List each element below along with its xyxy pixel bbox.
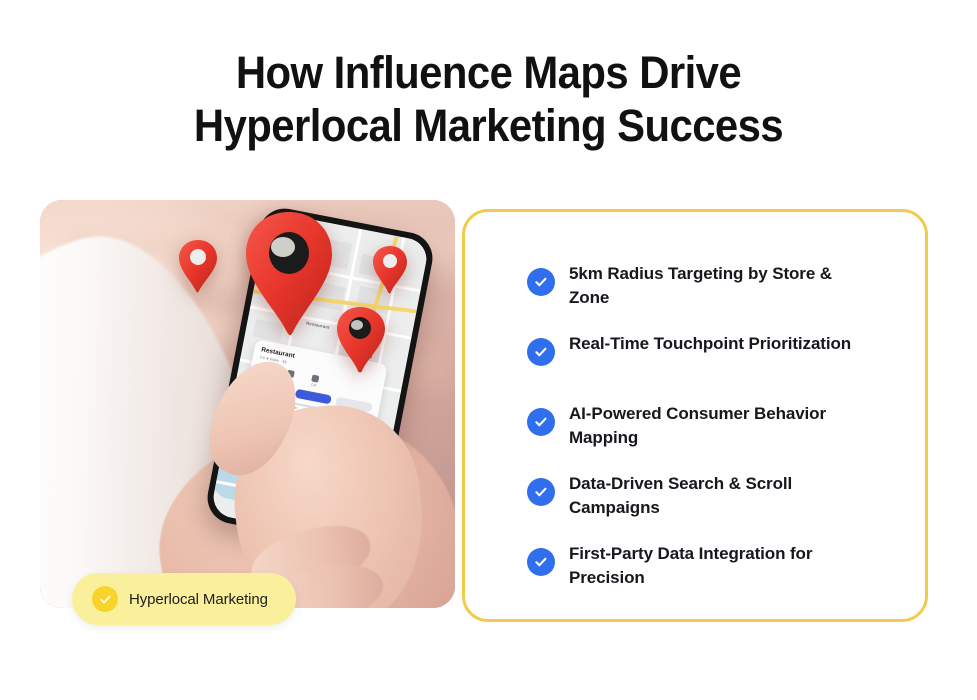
map-pin-icon-large bbox=[236, 208, 342, 338]
directions-button[interactable] bbox=[295, 388, 333, 404]
map-pin-icon-medium bbox=[332, 304, 388, 376]
check-circle-icon bbox=[527, 268, 555, 296]
feature-label: First-Party Data Integration for Precisi… bbox=[569, 538, 869, 590]
list-item: AI-Powered Consumer Behavior Mapping bbox=[527, 398, 907, 468]
check-circle-icon bbox=[92, 586, 118, 612]
status-badge[interactable]: Hyperlocal Marketing bbox=[72, 573, 296, 625]
hero-photo: Restaurant Restaurant 4.6 ★ Italian · $$… bbox=[40, 200, 455, 608]
check-circle-icon bbox=[527, 408, 555, 436]
list-item: First-Party Data Integration for Precisi… bbox=[527, 538, 907, 608]
page-title-line-1: How Influence Maps Drive bbox=[34, 46, 943, 99]
map-pin-icon-small-right bbox=[370, 244, 410, 296]
list-item: 5km Radius Targeting by Store & Zone bbox=[527, 258, 907, 328]
feature-card: 5km Radius Targeting by Store & Zone Rea… bbox=[462, 209, 928, 622]
feature-label: Real-Time Touchpoint Prioritization bbox=[569, 328, 851, 356]
check-circle-icon bbox=[527, 338, 555, 366]
check-circle-icon bbox=[527, 478, 555, 506]
check-circle-icon bbox=[527, 548, 555, 576]
feature-label: 5km Radius Targeting by Store & Zone bbox=[569, 258, 869, 310]
page-title-line-2: Hyperlocal Marketing Success bbox=[34, 99, 943, 152]
list-item: Data-Driven Search & Scroll Campaigns bbox=[527, 468, 907, 538]
infographic-page: How Influence Maps Drive Hyperlocal Mark… bbox=[0, 0, 977, 700]
feature-list: 5km Radius Targeting by Store & Zone Rea… bbox=[527, 258, 907, 608]
feature-label: AI-Powered Consumer Behavior Mapping bbox=[569, 398, 869, 450]
map-pin-icon-small-left bbox=[176, 238, 220, 294]
page-title: How Influence Maps Drive Hyperlocal Mark… bbox=[0, 46, 977, 152]
status-badge-label: Hyperlocal Marketing bbox=[129, 591, 268, 608]
list-item: Real-Time Touchpoint Prioritization bbox=[527, 328, 907, 398]
call-icon[interactable]: Call bbox=[305, 373, 323, 388]
feature-label: Data-Driven Search & Scroll Campaigns bbox=[569, 468, 869, 520]
